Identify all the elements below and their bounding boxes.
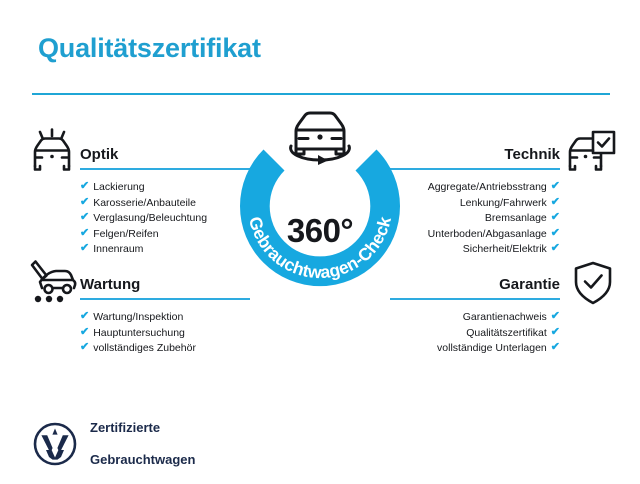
list-item-label: Wartung/Inspektion: [93, 310, 183, 326]
check-icon: ✔: [551, 342, 560, 353]
list-item-label: Sicherheit/Elektrik: [463, 242, 547, 258]
check-icon: ✔: [80, 197, 89, 208]
check-icon: ✔: [80, 212, 89, 223]
check-icon: ✔: [551, 197, 560, 208]
check-icon: ✔: [80, 243, 89, 254]
brand-text: Zertifizierte Gebrauchtwagen: [90, 404, 195, 484]
check-icon: ✔: [551, 181, 560, 192]
car-front-shine-icon: [27, 128, 77, 172]
list-item-label: Garantienachweis: [463, 310, 547, 326]
section-garantie-title: Garantie: [499, 276, 560, 293]
list-item-label: Hauptuntersuchung: [93, 326, 185, 342]
page-title: Qualitätszertifikat: [38, 33, 261, 64]
list-item-label: Unterboden/Abgasanlage: [428, 227, 547, 243]
car-front-checkbox-icon: [565, 128, 617, 172]
list-item-label: Bremsanlage: [485, 211, 547, 227]
section-optik-title: Optik: [80, 146, 118, 163]
check-icon: ✔: [80, 327, 89, 338]
vw-logo: [33, 422, 77, 466]
brand-line-1: Zertifizierte: [90, 420, 195, 436]
car-rotate-360-icon: [278, 104, 362, 170]
list-item: Garantienachweis✔: [390, 310, 560, 326]
section-garantie-items: Garantienachweis✔ Qualitätszertifikat✔ v…: [390, 310, 560, 357]
list-item-label: Qualitätszertifikat: [466, 326, 547, 342]
brand-line-2: Gebrauchtwagen: [90, 452, 195, 468]
list-item-label: vollständige Unterlagen: [437, 341, 547, 357]
list-item-label: Aggregate/Antriebsstrang: [428, 180, 547, 196]
qualitaetszertifikat-page: Qualitätszertifikat Optik ✔Lackierung ✔K…: [0, 0, 640, 480]
list-item-label: Verglasung/Beleuchtung: [93, 211, 207, 227]
section-wartung-title: Wartung: [80, 276, 140, 293]
check-icon: ✔: [551, 243, 560, 254]
section-technik-title: Technik: [504, 146, 560, 163]
car-wrench-icon: [28, 258, 78, 304]
list-item: ✔Hauptuntersuchung: [80, 326, 250, 342]
header-divider: [32, 93, 610, 95]
list-item-label: Felgen/Reifen: [93, 227, 158, 243]
list-item-label: Innenraum: [93, 242, 143, 258]
check-icon: ✔: [551, 311, 560, 322]
check-icon: ✔: [80, 181, 89, 192]
footer-brand: Zertifizierte Gebrauchtwagen: [33, 404, 195, 484]
list-item-label: vollständiges Zubehör: [93, 341, 196, 357]
check-icon: ✔: [80, 342, 89, 353]
list-item: Qualitätszertifikat✔: [390, 326, 560, 342]
list-item: vollständige Unterlagen✔: [390, 341, 560, 357]
check-icon: ✔: [551, 212, 560, 223]
list-item-label: Lenkung/Fahrwerk: [460, 196, 547, 212]
badge-degrees: 360°: [222, 212, 418, 250]
list-item: ✔Wartung/Inspektion: [80, 310, 250, 326]
check-icon: ✔: [551, 327, 560, 338]
list-item: ✔vollständiges Zubehör: [80, 341, 250, 357]
check-icon: ✔: [80, 228, 89, 239]
check-icon: ✔: [80, 311, 89, 322]
section-wartung-items: ✔Wartung/Inspektion ✔Hauptuntersuchung ✔…: [80, 310, 250, 357]
badge-360-gebrauchtwagen-check: Gebrauchtwagen-Check 360°: [222, 108, 418, 304]
shield-check-icon: [572, 260, 614, 306]
check-icon: ✔: [551, 228, 560, 239]
list-item-label: Lackierung: [93, 180, 144, 196]
list-item-label: Karosserie/Anbauteile: [93, 196, 196, 212]
